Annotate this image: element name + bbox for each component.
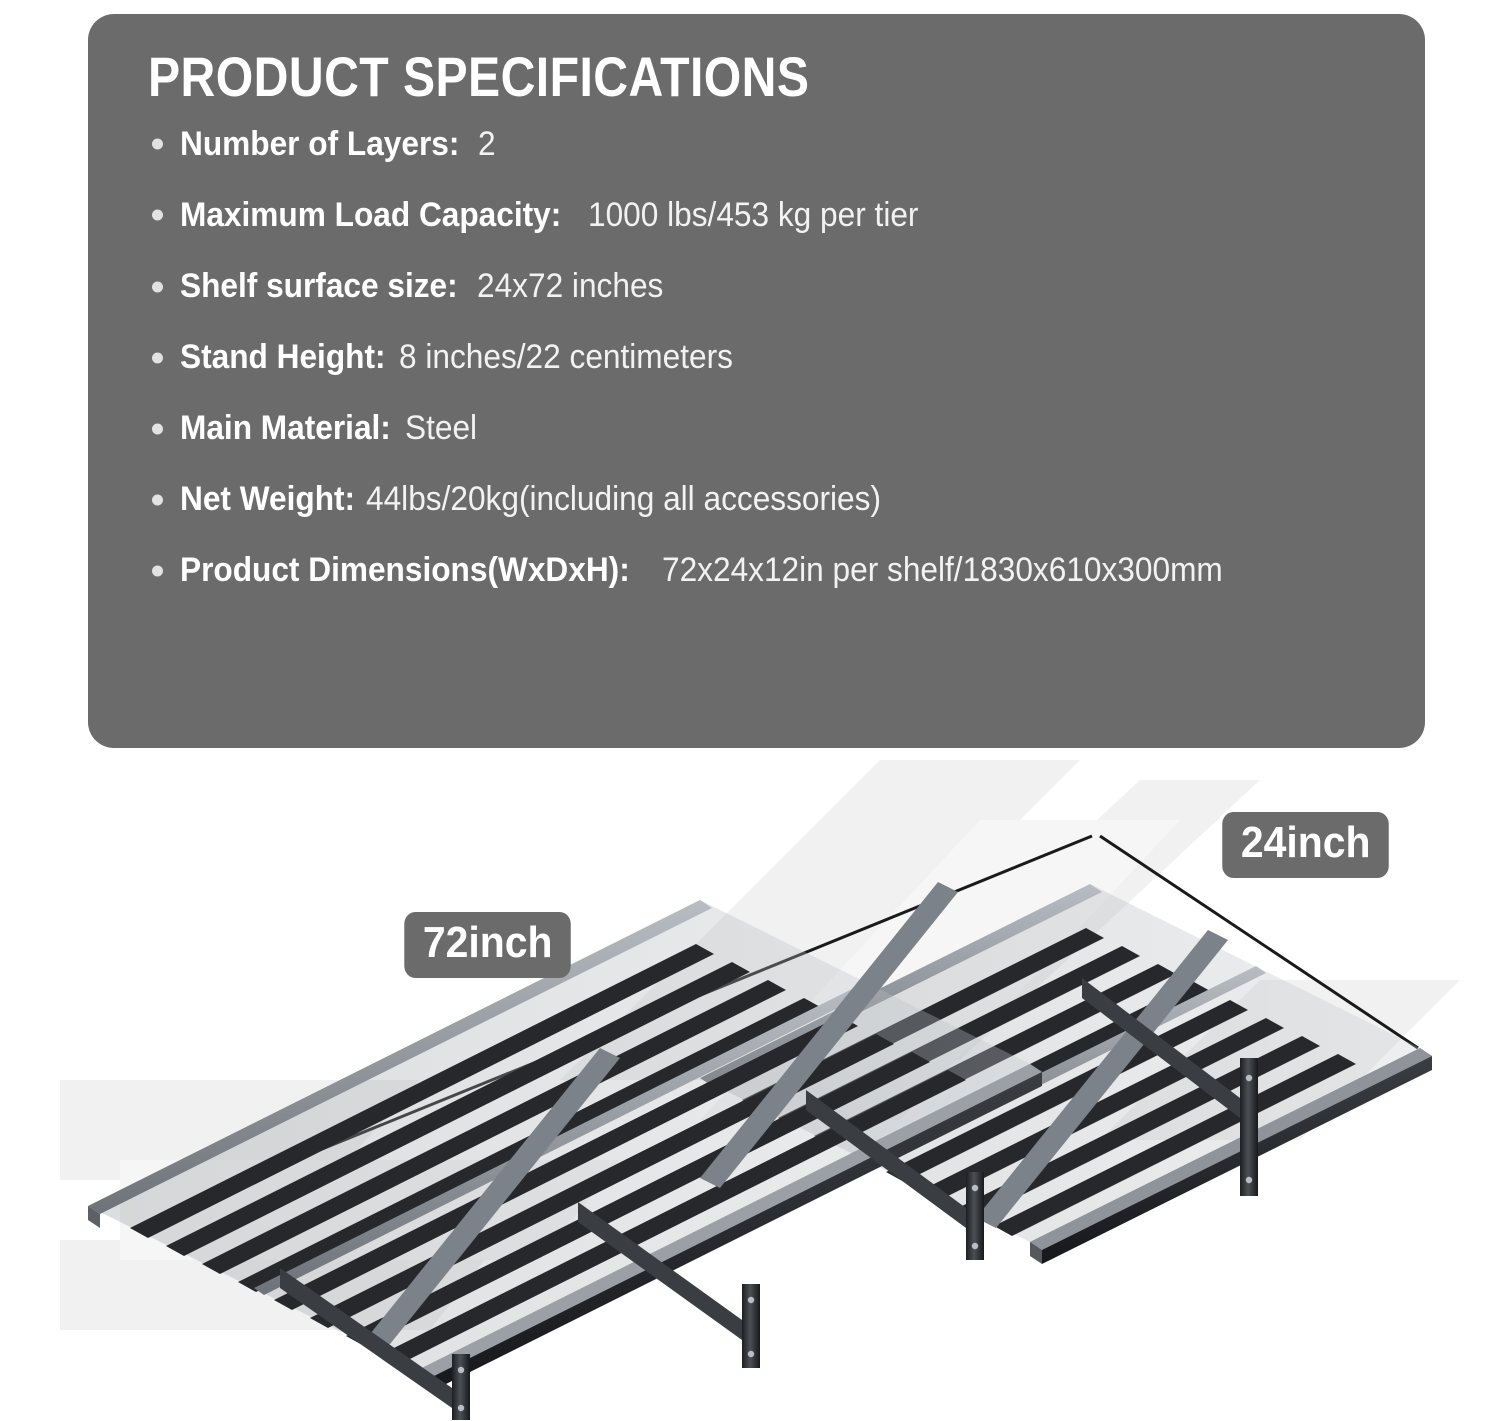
spec-value: 2: [478, 125, 496, 164]
spec-row-net-weight: Net Weight:44lbs/20kg(including all acce…: [148, 480, 1399, 519]
spec-value: 44lbs/20kg(including all accessories): [366, 480, 881, 519]
spec-row-maximum-load-capacity: Maximum Load Capacity:1000 lbs/453 kg pe…: [148, 196, 1399, 235]
dimension-badge-width: 72inch: [404, 912, 571, 978]
bullet-icon: [152, 281, 163, 292]
spec-value: 72x24x12in per shelf/1830x610x300mm: [662, 551, 1223, 590]
spec-label: Maximum Load Capacity:: [180, 196, 561, 235]
spec-row-stand-height: Stand Height:8 inches/22 centimeters: [148, 338, 1399, 377]
bullet-icon: [152, 494, 163, 505]
spec-value: 1000 lbs/453 kg per tier: [588, 196, 918, 235]
spec-value: 24x72 inches: [477, 267, 663, 306]
bullet-icon: [152, 210, 163, 221]
spec-label: Number of Layers:: [180, 125, 459, 164]
spec-label: Product Dimensions(WxDxH):: [180, 551, 630, 590]
bullet-icon: [152, 565, 163, 576]
bullet-icon: [152, 352, 163, 363]
spec-value: Steel: [405, 409, 477, 448]
spec-value: 8 inches/22 centimeters: [399, 338, 733, 377]
product-specifications-panel: PRODUCT SPECIFICATIONS Number of Layers:…: [88, 14, 1425, 748]
bullet-icon: [152, 423, 163, 434]
spec-row-shelf-surface-size: Shelf surface size:24x72 inches: [148, 267, 1399, 306]
spec-label: Net Weight:: [180, 480, 355, 519]
spec-row-main-material: Main Material:Steel: [148, 409, 1399, 448]
spec-row-number-of-layers: Number of Layers:2: [148, 125, 1399, 164]
spec-label: Shelf surface size:: [180, 267, 458, 306]
spec-label: Main Material:: [180, 409, 391, 448]
bullet-icon: [152, 139, 163, 150]
spec-label: Stand Height:: [180, 338, 386, 377]
spec-row-product-dimensions: Product Dimensions(WxDxH):72x24x12in per…: [148, 551, 1399, 590]
specifications-list: Number of Layers:2 Maximum Load Capacity…: [148, 125, 1399, 591]
dimension-badge-depth: 24inch: [1222, 812, 1389, 878]
page-title: PRODUCT SPECIFICATIONS: [148, 48, 1224, 107]
